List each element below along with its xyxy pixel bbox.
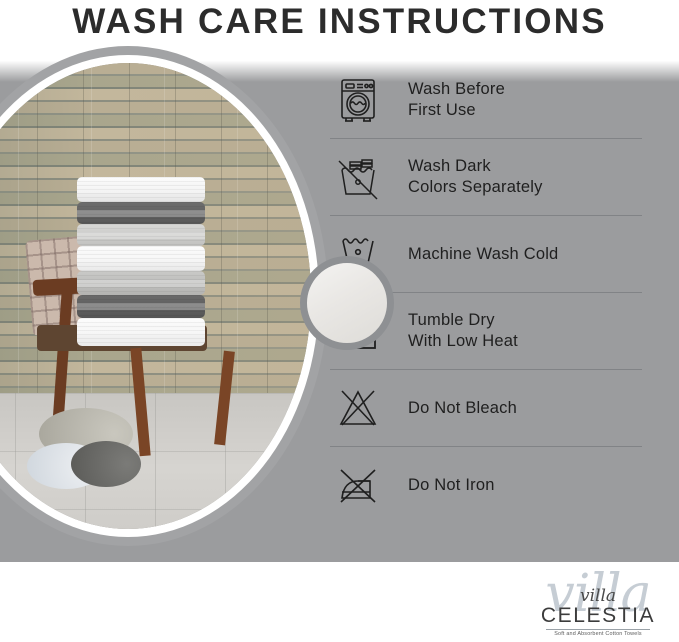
care-label: Machine Wash Cold — [408, 244, 558, 265]
brand-divider — [546, 629, 650, 630]
brand-logo: villa villa CELESTIA Soft and Absorbent … — [525, 564, 671, 640]
care-row-wash-dark-colors-separately: Wash Dark Colors Separately — [330, 139, 642, 216]
page-title: WASH CARE INSTRUCTIONS — [0, 0, 679, 48]
folded-towel — [77, 177, 205, 202]
brand-script-text: villa — [525, 588, 671, 605]
care-label: Do Not Bleach — [408, 398, 517, 419]
washing-machine-icon — [330, 77, 386, 123]
folded-towel — [77, 246, 205, 271]
folded-towel — [77, 202, 205, 224]
folded-towel — [77, 295, 205, 318]
brand-tagline: Soft and Absorbent Cotton Towels — [525, 631, 671, 638]
product-photo — [0, 46, 328, 546]
care-label: Do Not Iron — [408, 475, 495, 496]
care-label-line1: Do Not Bleach — [408, 398, 517, 419]
folded-towel — [77, 318, 205, 346]
care-label-line2: Colors Separately — [408, 177, 543, 198]
care-label-line2: With Low Heat — [408, 331, 518, 352]
do-not-iron-icon — [330, 464, 386, 506]
magnifier-circle — [300, 256, 394, 350]
care-label-line1: Machine Wash Cold — [408, 244, 558, 265]
care-label: Wash Before First Use — [408, 79, 505, 121]
care-row-do-not-iron: Do Not Iron — [330, 447, 642, 523]
care-label-line1: Do Not Iron — [408, 475, 495, 496]
care-label: Wash Dark Colors Separately — [408, 156, 543, 198]
care-row-wash-before-first-use: Wash Before First Use — [330, 62, 642, 139]
photo-image — [0, 63, 311, 529]
brand-name-block: villa CELESTIA Soft and Absorbent Cotton… — [525, 588, 671, 638]
brand-name: CELESTIA — [525, 605, 671, 627]
do-not-bleach-icon — [330, 386, 386, 430]
no-wash-dark-colors-icon — [330, 154, 386, 200]
care-label-line1: Wash Dark — [408, 156, 543, 177]
care-label-line2: First Use — [408, 100, 505, 121]
care-label-line1: Wash Before — [408, 79, 505, 100]
care-row-do-not-bleach: Do Not Bleach — [330, 370, 642, 447]
care-label-line1: Tumble Dry — [408, 310, 518, 331]
folded-towel — [77, 224, 205, 246]
folded-towel — [77, 271, 205, 295]
rolled-towel — [71, 441, 141, 487]
care-label: Tumble Dry With Low Heat — [408, 310, 518, 352]
